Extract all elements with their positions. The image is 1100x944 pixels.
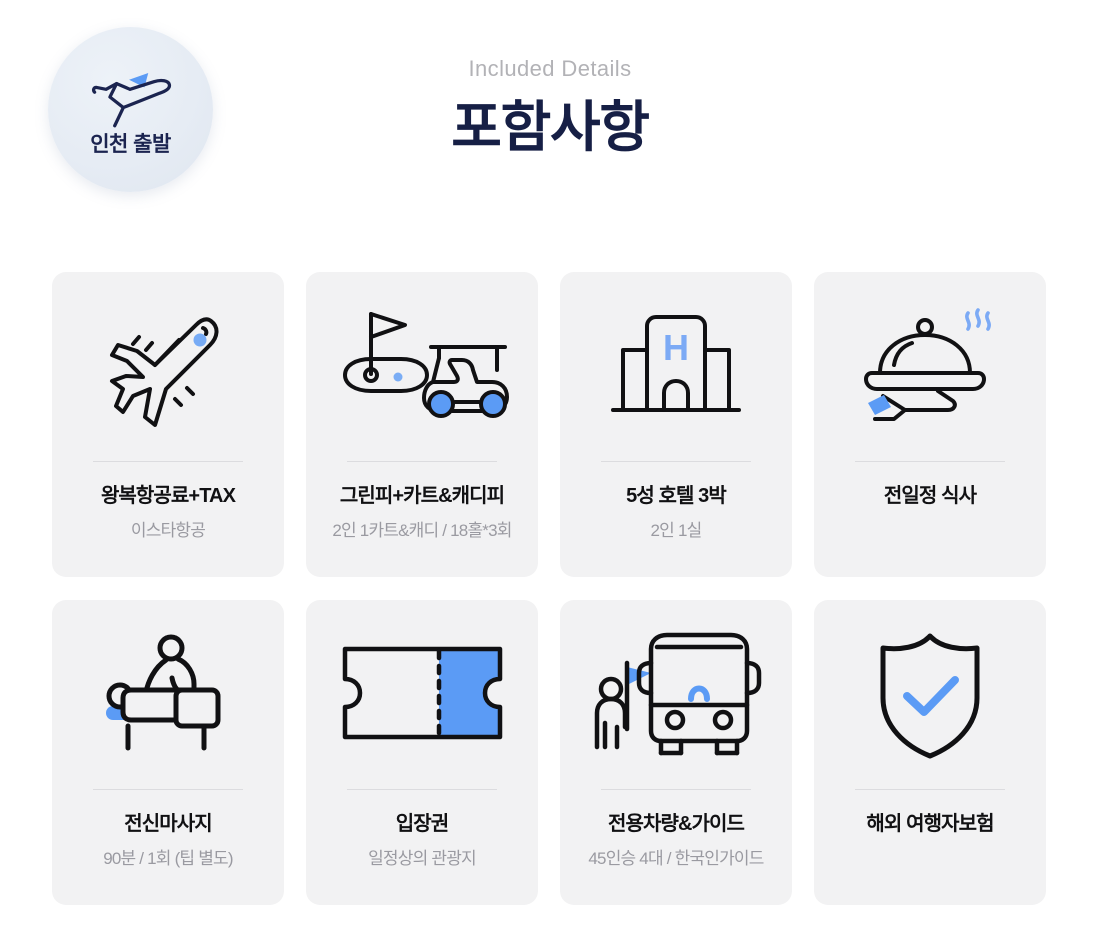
card-green-fee-cart-caddie[interactable]: 그린피+카트&캐디피 2인 1카트&캐디 / 18홀*3회: [306, 272, 538, 577]
card-title: 그린피+카트&캐디피: [334, 484, 510, 508]
airplane-icon: [52, 272, 284, 457]
card-private-vehicle-guide[interactable]: 전용차량&가이드 45인승 4대 / 한국인가이드: [560, 600, 792, 905]
card-title: 전용차량&가이드: [602, 812, 750, 836]
svg-text:H: H: [663, 327, 689, 368]
card-subtitle: 2인 1카트&캐디 / 18홀*3회: [332, 521, 511, 541]
page-title: 포함사항: [0, 96, 1100, 159]
card-all-meals[interactable]: 전일정 식사: [814, 272, 1046, 577]
card-title: 해외 여행자보험: [860, 812, 999, 836]
card-subtitle: 이스타항공: [131, 521, 205, 541]
card-roundtrip-airfare[interactable]: 왕복항공료+TAX 이스타항공: [52, 272, 284, 577]
food-cloche-icon: [814, 272, 1046, 457]
card-title: 입장권: [390, 812, 455, 836]
card-divider: [347, 789, 497, 790]
card-divider: [601, 461, 751, 462]
card-divider: [93, 461, 243, 462]
card-divider: [855, 461, 1005, 462]
shield-check-icon: [814, 600, 1046, 785]
card-subtitle: 일정상의 관광지: [368, 849, 476, 869]
massage-icon: [52, 600, 284, 785]
bus-guide-icon: [560, 600, 792, 785]
card-title: 전신마사지: [118, 812, 218, 836]
golf-flag-cart-icon: [306, 272, 538, 457]
card-divider: [601, 789, 751, 790]
card-divider: [855, 789, 1005, 790]
card-subtitle: 45인승 4대 / 한국인가이드: [588, 849, 763, 869]
hotel-building-icon: H: [560, 272, 792, 457]
card-divider: [93, 789, 243, 790]
card-title: 5성 호텔 3박: [620, 484, 732, 508]
card-five-star-hotel[interactable]: H 5성 호텔 3박 2인 1실: [560, 272, 792, 577]
included-items-grid: 왕복항공료+TAX 이스타항공: [52, 272, 1048, 905]
card-title: 전일정 식사: [878, 484, 982, 508]
card-full-body-massage[interactable]: 전신마사지 90분 / 1회 (팁 별도): [52, 600, 284, 905]
card-title: 왕복항공료+TAX: [95, 484, 241, 508]
page-header: Included Details 포함사항: [0, 56, 1100, 159]
card-divider: [347, 461, 497, 462]
card-travel-insurance[interactable]: 해외 여행자보험: [814, 600, 1046, 905]
ticket-icon: [306, 600, 538, 785]
page-eyebrow: Included Details: [0, 56, 1100, 82]
card-subtitle: 2인 1실: [651, 521, 702, 541]
card-subtitle: 90분 / 1회 (팁 별도): [103, 849, 233, 869]
card-admission-ticket[interactable]: 입장권 일정상의 관광지: [306, 600, 538, 905]
